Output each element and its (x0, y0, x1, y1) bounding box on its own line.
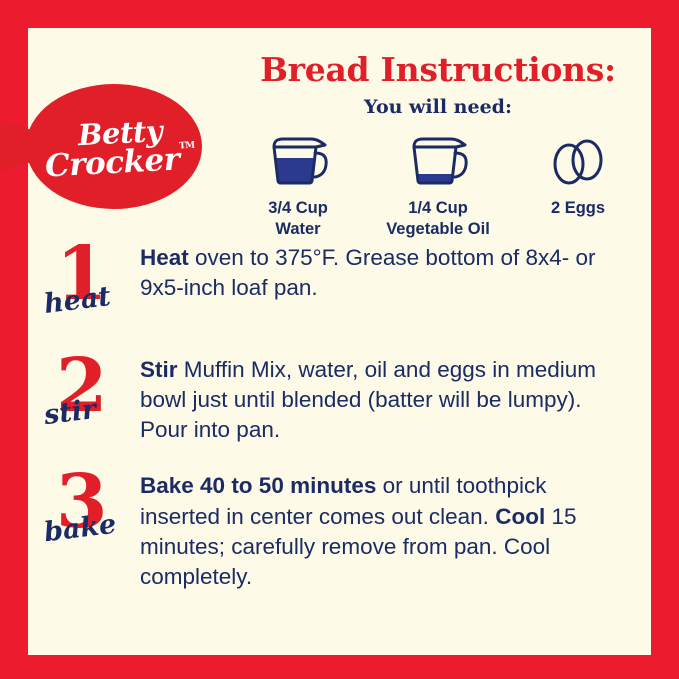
step-3: 3 bake Bake 40 to 50 minutes or until to… (28, 471, 651, 592)
page-title: Bread Instructions: (228, 50, 648, 89)
step-lead: Heat (140, 245, 189, 270)
step-rest: oven to 375°F. Grease bottom of 8x4- or … (140, 245, 596, 300)
step-text: Heat oven to 375°F. Grease bottom of 8x4… (140, 243, 651, 329)
step-word: stir (43, 396, 98, 429)
step-lead: Bake 40 to 50 minutes (140, 473, 376, 498)
step-marker: 2 stir (28, 355, 140, 441)
logo-text: Betty Crocker TM (26, 84, 202, 209)
logo-line-crocker: Crocker TM (44, 144, 180, 182)
step-text: Stir Muffin Mix, water, oil and eggs in … (140, 355, 651, 445)
measuring-cup-three-quarters-icon (267, 126, 329, 188)
step-marker: 1 heat (28, 243, 140, 329)
measuring-cup-one-quarter-icon (407, 126, 469, 188)
step-rest: Muffin Mix, water, oil and eggs in mediu… (140, 357, 596, 442)
step-1: 1 heat Heat oven to 375°F. Grease bottom… (28, 243, 651, 329)
step-2: 2 stir Stir Muffin Mix, water, oil and e… (28, 355, 651, 445)
step-marker: 3 bake (28, 471, 140, 557)
step-lead: Stir (140, 357, 178, 382)
ingredients-list: 3/4 CupWater 1/4 CupVegetable Oil (228, 126, 648, 239)
ingredient-eggs: 2 Eggs (513, 126, 643, 219)
betty-crocker-logo: Betty Crocker TM (0, 84, 203, 209)
ingredient-label: 1/4 CupVegetable Oil (386, 198, 490, 239)
step-word: heat (43, 283, 113, 318)
step-text: Bake 40 to 50 minutes or until toothpick… (140, 471, 651, 592)
steps-list: 1 heat Heat oven to 375°F. Grease bottom… (28, 243, 651, 618)
logo-crocker-word: Crocker (44, 141, 180, 184)
step-lead-2: Cool (495, 504, 545, 529)
ingredient-oil: 1/4 CupVegetable Oil (373, 126, 503, 239)
ingredients-subtitle: You will need: (228, 96, 648, 118)
two-eggs-icon (547, 126, 609, 188)
ingredient-label: 2 Eggs (551, 198, 605, 219)
instruction-card: Betty Crocker TM Bread Instructions: You… (28, 28, 651, 655)
trademark-icon: TM (179, 141, 195, 151)
ingredient-water: 3/4 CupWater (233, 126, 363, 239)
ingredient-label: 3/4 CupWater (268, 198, 328, 239)
